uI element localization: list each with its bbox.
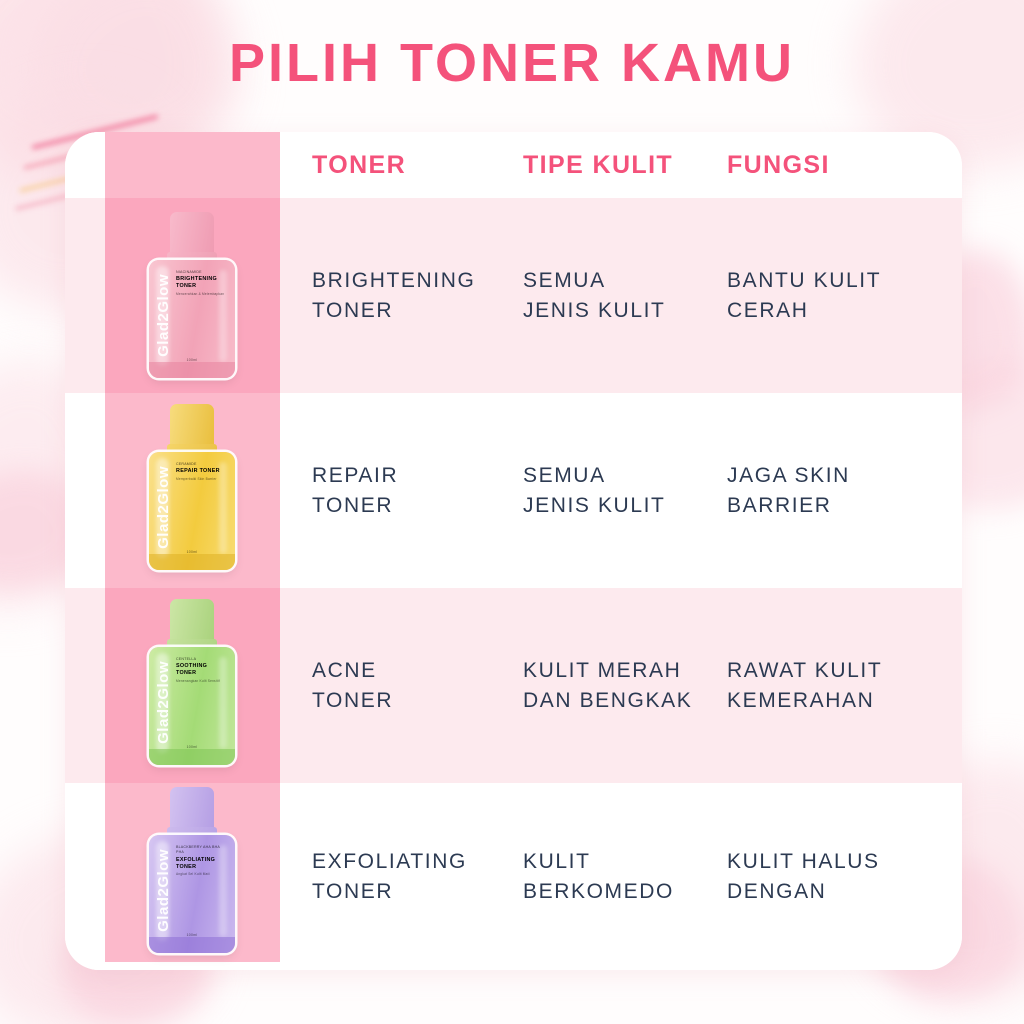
bottle-body: Glad2Glow CERAMIDE REPAIR TONER Memperba… [149,452,235,570]
product-bottle-acne[interactable]: Glad2Glow CENTELLA SOOTHING TONER Menena… [149,599,235,765]
cell-line: JAGA SKIN [727,461,957,491]
bottle-liquid [149,362,235,378]
cell-line: SEMUA [523,266,723,296]
bottle-label-top: BLACKBERRY AHA BHA PHA [176,845,228,856]
bottle-liquid [149,749,235,765]
cell-line: BANTU KULIT [727,266,957,296]
cell-line: BRIGHTENING [312,266,517,296]
bottle-body: Glad2Glow BLACKBERRY AHA BHA PHA EXFOLIA… [149,835,235,953]
cell-line: JENIS KULIT [523,491,723,521]
product-bottle-brightening[interactable]: Glad2Glow NIACINAMIDE BRIGHTENING TONER … [149,212,235,378]
column-header-toner: TONER [312,132,517,198]
bottle-label-sub: Angkat Sel Kulit Mati [176,872,228,877]
cell-line: KULIT HALUS [727,847,957,877]
bottle-liquid [149,554,235,570]
bottle-label-sub: Memperbaiki Skin Barrier [176,477,228,482]
cell-line: DENGAN [727,877,957,907]
cell-line: KULIT [523,847,723,877]
cell-line: EXFOLIATING [312,847,517,877]
bottle-volume: 100ml [149,933,235,937]
bottle-label: CERAMIDE REPAIR TONER Memperbaiki Skin B… [176,462,228,482]
bottle-label-sub: Mencerahkan & Melembapkan [176,292,228,297]
cell-toner-2: REPAIR TONER [312,393,517,588]
bottle-liquid [149,937,235,953]
bottle-brand-text: Glad2Glow [155,849,172,932]
cell-tipe-kulit-2: SEMUA JENIS KULIT [523,393,723,588]
column-header-tipe-kulit: TIPE KULIT [523,132,723,198]
cell-toner-1: BRIGHTENING TONER [312,198,517,393]
bottle-body: Glad2Glow CENTELLA SOOTHING TONER Menena… [149,647,235,765]
cell-tipe-kulit-3: KULIT MERAH DAN BENGKAK [523,588,723,783]
cell-line: KULIT MERAH [523,656,723,686]
page-title: PILIH TONER KAMU [0,34,1024,93]
bottle-brand-text: Glad2Glow [155,661,172,744]
bottle-label: NIACINAMIDE BRIGHTENING TONER Mencerahka… [176,270,228,297]
cell-tipe-kulit-1: SEMUA JENIS KULIT [523,198,723,393]
cell-line: KEMERAHAN [727,686,957,716]
bottle-label-name: REPAIR TONER [176,468,228,475]
bottle-volume: 100ml [149,550,235,554]
cell-line: TONER [312,491,517,521]
cell-line: TONER [312,296,517,326]
cell-line: BARRIER [727,491,957,521]
bottle-brand-text: Glad2Glow [155,274,172,357]
cell-line: BERKOMEDO [523,877,723,907]
product-column-segment [105,132,280,198]
cell-toner-4: EXFOLIATING TONER [312,783,517,970]
bottle-label: CENTELLA SOOTHING TONER Menenangkan Kuli… [176,657,228,684]
cell-line: SEMUA [523,461,723,491]
bottle-label-top: NIACINAMIDE [176,270,228,275]
cell-line: RAWAT KULIT [727,656,957,686]
bottle-label-name: EXFOLIATING TONER [176,857,228,871]
cell-line: TONER [312,686,517,716]
bottle-body: Glad2Glow NIACINAMIDE BRIGHTENING TONER … [149,260,235,378]
cell-line: CERAH [727,296,957,326]
product-bottle-exfoliating[interactable]: Glad2Glow BLACKBERRY AHA BHA PHA EXFOLIA… [149,787,235,953]
bottle-brand-text: Glad2Glow [155,466,172,549]
bottle-label-top: CERAMIDE [176,462,228,467]
cell-fungsi-3: RAWAT KULIT KEMERAHAN [727,588,957,783]
cell-line: JENIS KULIT [523,296,723,326]
bottle-volume: 100ml [149,745,235,749]
cell-fungsi-2: JAGA SKIN BARRIER [727,393,957,588]
product-bottle-repair[interactable]: Glad2Glow CERAMIDE REPAIR TONER Memperba… [149,404,235,570]
bottle-label-name: SOOTHING TONER [176,663,228,677]
cell-line: DAN BENGKAK [523,686,723,716]
cell-line: ACNE [312,656,517,686]
bottle-label-top: CENTELLA [176,657,228,662]
cell-fungsi-1: BANTU KULIT CERAH [727,198,957,393]
cell-fungsi-4: KULIT HALUS DENGAN [727,783,957,970]
bottle-label: BLACKBERRY AHA BHA PHA EXFOLIATING TONER… [176,845,228,877]
cell-toner-3: ACNE TONER [312,588,517,783]
bottle-label-name: BRIGHTENING TONER [176,276,228,290]
cell-tipe-kulit-4: KULIT BERKOMEDO [523,783,723,970]
bottle-volume: 100ml [149,358,235,362]
comparison-card: TONER TIPE KULIT FUNGSI Glad2Glow NIACIN… [65,132,962,970]
column-header-fungsi: FUNGSI [727,132,957,198]
cell-line: REPAIR [312,461,517,491]
cell-line: TONER [312,877,517,907]
bottle-label-sub: Menenangkan Kulit Sensitif [176,679,228,684]
